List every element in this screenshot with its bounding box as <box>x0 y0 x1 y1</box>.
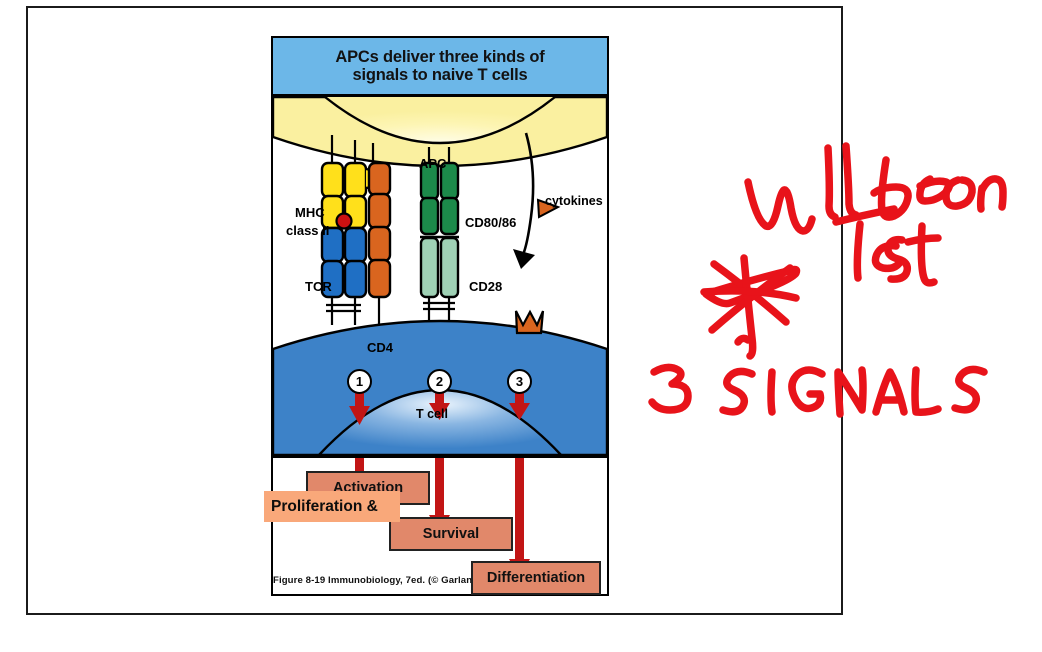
header-title-line1: APCs deliver three kinds of <box>335 48 544 66</box>
cytokine-arrow-head <box>513 249 535 269</box>
slide-frame: APCs deliver three kinds of signals to n… <box>26 6 843 615</box>
label-cytokines: cytokines <box>545 194 603 208</box>
label-cd80-86: CD80/86 <box>465 215 516 230</box>
slide-canvas: APCs deliver three kinds of signals to n… <box>0 0 1042 652</box>
signal-number-2: 2 <box>427 369 452 394</box>
header-title-line2: signals to naive T cells <box>353 66 528 84</box>
cd4-molecule <box>369 163 390 297</box>
label-cd28: CD28 <box>469 279 502 294</box>
signal-number-3: 3 <box>507 369 532 394</box>
proliferation-overlay-textbox: Proliferation & <box>264 491 400 522</box>
peptide-antigen-dot <box>337 214 352 229</box>
outcome-differentiation: Differentiation <box>471 561 601 595</box>
cd28-molecule <box>420 237 459 297</box>
cytokine-receptor <box>516 311 543 333</box>
figure-header-bar: APCs deliver three kinds of signals to n… <box>271 36 609 96</box>
diagram-box: APC MHC class II TCR CD4 CD80/86 CD28 cy… <box>271 95 609 457</box>
label-cd4: CD4 <box>367 340 393 355</box>
cd80-86-molecule <box>421 163 458 234</box>
cd28-stalks <box>423 297 455 323</box>
label-t-cell: T cell <box>416 407 448 421</box>
signal-number-1: 1 <box>347 369 372 394</box>
tcell-receptor-stalks <box>326 297 379 329</box>
label-mhc-line1: MHC <box>295 205 325 220</box>
ink-test <box>836 209 938 283</box>
label-tcr: TCR <box>305 279 332 294</box>
figure-header-text: APCs deliver three kinds of signals to n… <box>335 48 544 85</box>
cell-diagram-svg <box>273 97 607 455</box>
outcome-survival: Survival <box>389 517 513 551</box>
label-apc: APC <box>419 156 446 171</box>
label-mhc-line2: class II <box>286 223 329 238</box>
